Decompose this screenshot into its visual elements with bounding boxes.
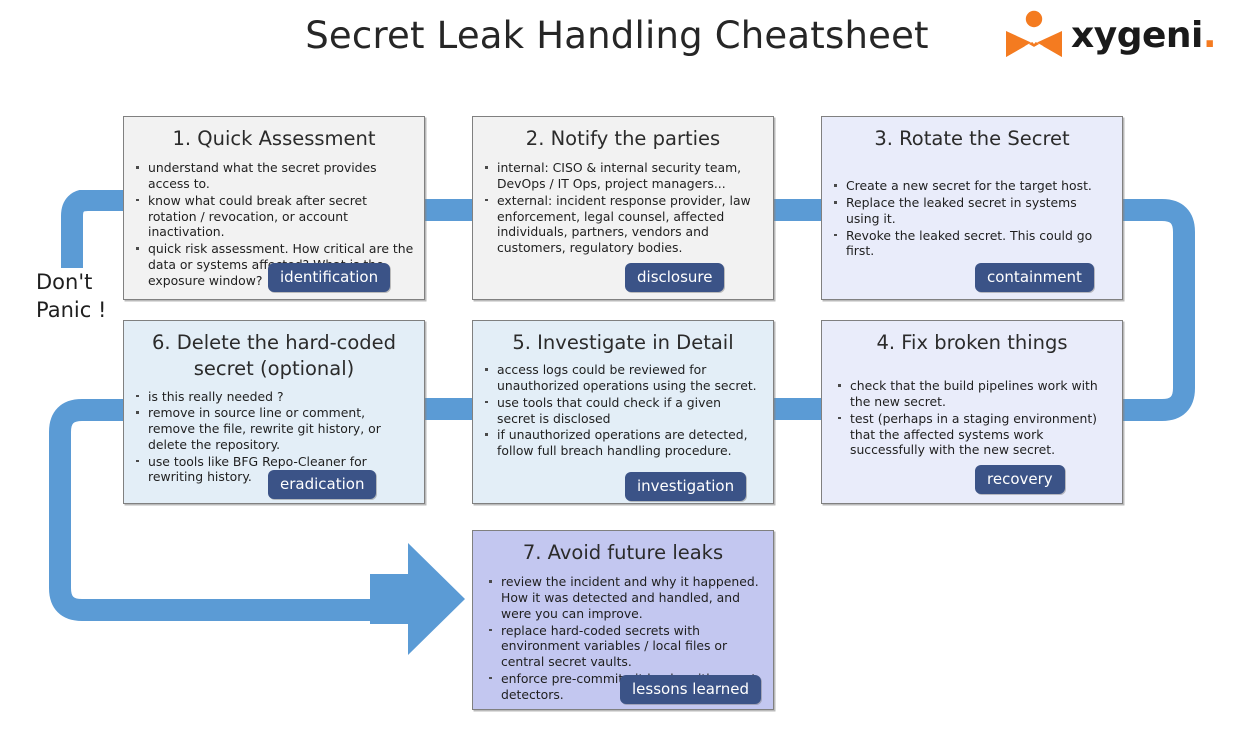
list-item: know what could break after secret rotat… — [134, 193, 414, 240]
list-item: remove in source line or comment, remove… — [134, 405, 414, 452]
cheatsheet-canvas: Secret Leak Handling Cheatsheet xygeni. — [0, 0, 1234, 729]
xygeni-logo: xygeni. — [1003, 10, 1216, 62]
card-body: Create a new secret for the target host.… — [832, 178, 1112, 259]
bullet-list: check that the build pipelines work with… — [836, 378, 1112, 458]
list-item: internal: CISO & internal security team,… — [483, 160, 763, 192]
card-fix-broken-things[interactable]: 4. Fix broken things check that the buil… — [821, 320, 1123, 504]
list-item: replace hard-coded secrets with environm… — [487, 623, 763, 670]
dont-panic-line1: Don't — [36, 268, 106, 296]
brand-word-text: xygeni — [1071, 18, 1203, 54]
card-title: 6. Delete the hard-coded secret (optiona… — [140, 330, 408, 383]
list-item: Create a new secret for the target host. — [832, 178, 1112, 194]
card-body: access logs could be reviewed for unauth… — [483, 362, 763, 459]
card-title: 7. Avoid future leaks — [483, 540, 763, 566]
card-title: 2. Notify the parties — [483, 126, 763, 152]
list-item: check that the build pipelines work with… — [836, 378, 1112, 410]
badge-eradication[interactable]: eradication — [268, 470, 376, 499]
card-notify-the-parties[interactable]: 2. Notify the parties internal: CISO & i… — [472, 116, 774, 300]
badge-disclosure[interactable]: disclosure — [625, 263, 724, 292]
card-body: internal: CISO & internal security team,… — [483, 160, 763, 256]
list-item: use tools that could check if a given se… — [483, 395, 763, 427]
bullet-list: internal: CISO & internal security team,… — [483, 160, 763, 256]
card1-to-card2-link — [418, 199, 478, 221]
card4-to-card5-link — [767, 398, 827, 420]
xygeni-bowtie-logo-icon — [1003, 10, 1065, 62]
card-title: 4. Fix broken things — [832, 330, 1112, 356]
badge-identification[interactable]: identification — [268, 263, 390, 292]
badge-containment[interactable]: containment — [975, 263, 1094, 292]
badge-recovery[interactable]: recovery — [975, 465, 1065, 494]
badge-lessons-learned[interactable]: lessons learned — [620, 675, 761, 704]
card-body: check that the build pipelines work with… — [836, 378, 1112, 458]
card-title: 3. Rotate the Secret — [832, 126, 1112, 152]
brand-dot: . — [1203, 18, 1216, 54]
brand-wordmark: xygeni. — [1071, 18, 1216, 54]
list-item: understand what the secret provides acce… — [134, 160, 414, 192]
list-item: Revoke the leaked secret. This could go … — [832, 228, 1112, 260]
list-item: if unauthorized operations are detected,… — [483, 427, 763, 459]
dont-panic-line2: Panic ! — [36, 296, 106, 324]
bullet-list: access logs could be reviewed for unauth… — [483, 362, 763, 459]
list-item: is this really needed ? — [134, 389, 414, 405]
list-item: access logs could be reviewed for unauth… — [483, 362, 763, 394]
card2-to-card3-link — [767, 199, 827, 221]
card-title: 1. Quick Assessment — [134, 126, 414, 152]
badge-investigation[interactable]: investigation — [625, 472, 746, 501]
card3-to-card4-bracket — [1110, 190, 1200, 440]
list-item: external: incident response provider, la… — [483, 193, 763, 256]
list-item: Replace the leaked secret in systems usi… — [832, 195, 1112, 227]
bullet-list: Create a new secret for the target host.… — [832, 178, 1112, 259]
card-title: 5. Investigate in Detail — [483, 330, 763, 356]
list-item: review the incident and why it happened.… — [487, 574, 763, 621]
list-item: test (perhaps in a staging environment) … — [836, 411, 1112, 458]
dont-panic-note: Don't Panic ! — [36, 268, 106, 325]
